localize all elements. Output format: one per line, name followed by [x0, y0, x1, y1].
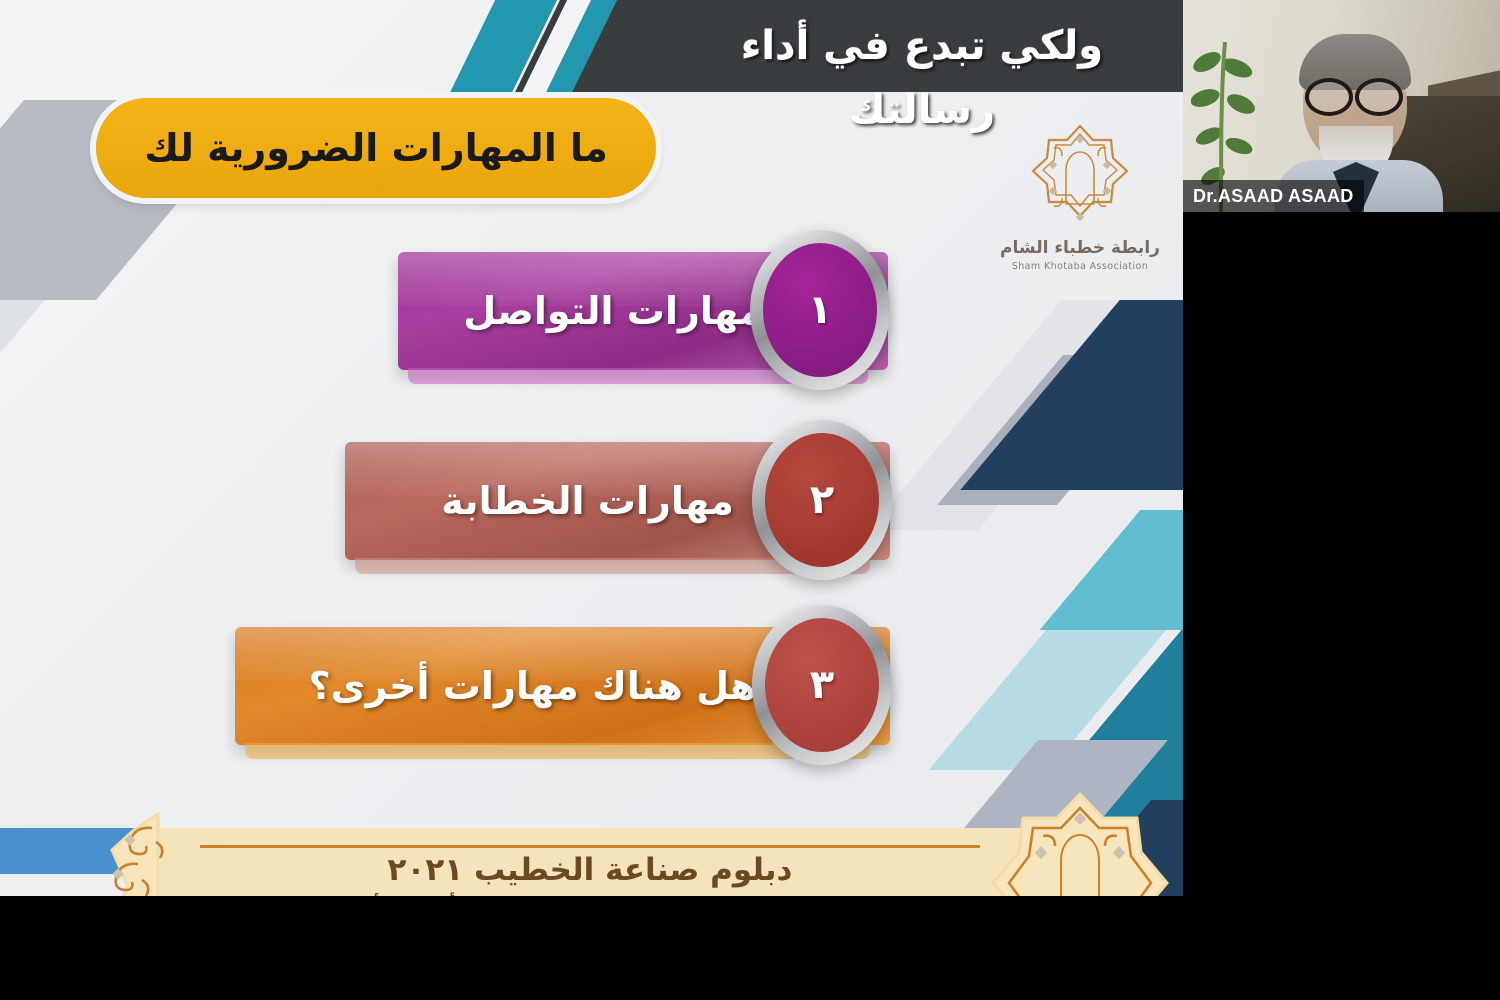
- logo-arabic-name: رابطة خطباء الشام: [1000, 238, 1160, 258]
- webcam-tile[interactable]: Dr.ASAAD ASAAD: [1183, 0, 1500, 212]
- footer-line-2: برنامج لغة الجسد عند الخطيب الدكتور أسعد…: [140, 894, 1040, 896]
- skill-row-2: مهارات الخطابة ٢: [345, 420, 890, 580]
- participant-name-label: Dr.ASAAD ASAAD: [1183, 180, 1364, 212]
- skill-number-knob-3: ٣: [752, 605, 892, 765]
- skill-number-2: ٢: [765, 433, 879, 567]
- skill-row-3: هل هناك مهارات أخرى؟ ٣: [235, 605, 890, 765]
- logo-english-name: Sham Khotaba Association: [1012, 261, 1148, 272]
- screen-root: ولكي تبدع في أداء رسالتك ما المهارات الض…: [0, 0, 1500, 1000]
- ornament-left-icon: [98, 806, 218, 896]
- glasses-lens-right: [1355, 78, 1403, 116]
- footer-line-1: دبلوم صناعة الخطيب ٢٠٢١: [140, 852, 1040, 888]
- question-pill: ما المهارات الضرورية لك: [96, 98, 656, 198]
- question-pill-label: ما المهارات الضرورية لك: [144, 126, 608, 170]
- glasses-lens-left: [1305, 78, 1353, 116]
- footer-rule-top: [200, 845, 980, 848]
- slide-header-title: ولكي تبدع في أداء رسالتك: [687, 14, 1157, 78]
- skill-row-1: مهارات التواصل ١: [398, 230, 888, 390]
- presentation-slide: ولكي تبدع في أداء رسالتك ما المهارات الض…: [0, 0, 1183, 896]
- skill-number-1: ١: [763, 243, 877, 377]
- ornament-right-star-icon: [985, 788, 1175, 896]
- skill-number-3: ٣: [765, 618, 879, 752]
- association-logo: رابطة خطباء الشام Sham Khotaba Associati…: [985, 118, 1175, 298]
- mihrab-star-logo-icon: [1014, 118, 1146, 236]
- eyeglasses-icon: [1305, 78, 1403, 108]
- skill-number-knob-2: ٢: [752, 420, 892, 580]
- decorative-wedge-right-cyan: [1040, 510, 1183, 630]
- slide-footer: دبلوم صناعة الخطيب ٢٠٢١ برنامج لغة الجسد…: [140, 828, 1040, 896]
- skill-number-knob-1: ١: [750, 230, 890, 390]
